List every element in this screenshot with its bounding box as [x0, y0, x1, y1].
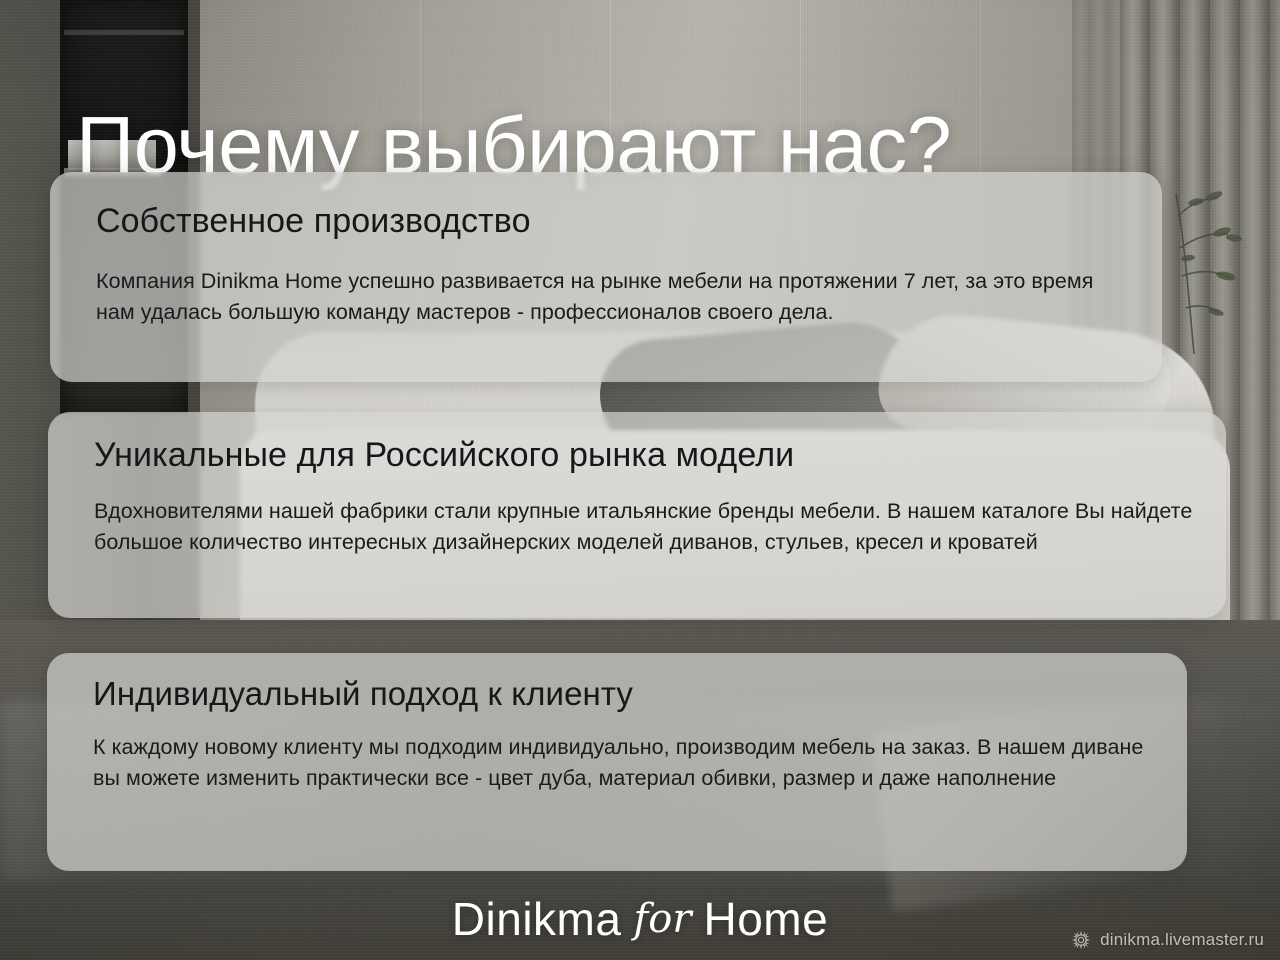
feature-card-own-production: Собственное производство Компания Dinikm… [50, 172, 1162, 382]
mandala-starburst-icon [1071, 930, 1091, 950]
feature-card-individual-approach: Индивидуальный подход к клиенту К каждом… [47, 653, 1187, 871]
brand-logo-first-word: Dinikma [452, 893, 622, 945]
poster-content: Почему выбирают нас? Собственное произво… [0, 0, 1280, 960]
feature-card-title: Собственное производство [96, 204, 1124, 240]
feature-card-title: Индивидуальный подход к клиенту [93, 677, 1161, 712]
feature-card-title: Уникальные для Российского рынка модели [94, 438, 1200, 474]
poster-root: Почему выбирают нас? Собственное произво… [0, 0, 1280, 960]
feature-card-body: К каждому новому клиенту мы подходим инд… [93, 732, 1149, 794]
watermark: dinikma.livemaster.ru [1071, 930, 1264, 950]
brand-logo-connector: for [633, 896, 691, 942]
feature-card-body: Компания Dinikma Home успешно развиваетс… [96, 266, 1124, 328]
feature-card-unique-models: Уникальные для Российского рынка модели … [48, 412, 1226, 618]
brand-logo-second-word: Home [703, 893, 828, 945]
feature-card-body: Вдохновителями нашей фабрики стали крупн… [94, 496, 1200, 558]
watermark-text: dinikma.livemaster.ru [1100, 930, 1264, 950]
